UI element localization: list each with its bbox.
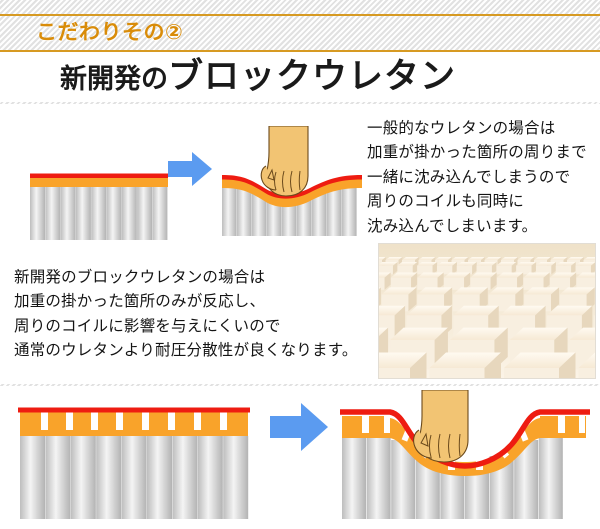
block-urethane-layer bbox=[20, 412, 248, 436]
header-rule-bottom bbox=[0, 50, 600, 52]
cover-layer bbox=[18, 408, 250, 413]
header-rule-top bbox=[0, 14, 600, 16]
caption-line: 加重が掛かった箇所の周りまで bbox=[367, 141, 587, 165]
fist-icon bbox=[414, 390, 468, 462]
caption-line: 通常のウレタンより耐圧分散性が良くなります。 bbox=[14, 339, 358, 363]
caption-line: 一緒に沈み込んでしまうので bbox=[367, 166, 587, 190]
urethane-layer bbox=[30, 177, 168, 187]
page-title: 新開発のブロックウレタン bbox=[60, 57, 456, 104]
arrow-right-bottom bbox=[270, 403, 328, 451]
page-title-main: ブロックウレタン bbox=[168, 57, 456, 96]
caption-standard-urethane: 一般的なウレタンの場合は 加重が掛かった箇所の周りまで 一緒に沈み込んでしまうの… bbox=[367, 117, 587, 239]
caption-line: 一般的なウレタンの場合は bbox=[367, 117, 587, 141]
page-title-prefix: 新開発の bbox=[60, 64, 168, 94]
coil-row bbox=[30, 186, 167, 240]
diagram-standard-pressed bbox=[222, 126, 362, 243]
eyebrow-label: こだわりその② bbox=[36, 19, 183, 47]
arrow-right-top bbox=[168, 152, 212, 186]
caption-line: 加重の掛かった箇所のみが反応し、 bbox=[14, 290, 358, 314]
foam-photo bbox=[378, 243, 596, 379]
caption-line: 周りのコイルに影響を与えにくいので bbox=[14, 315, 358, 339]
caption-line: 新開発のブロックウレタンの場合は bbox=[14, 266, 358, 290]
caption-line: 沈み込んでしまいます。 bbox=[367, 215, 587, 239]
caption-block-urethane: 新開発のブロックウレタンの場合は 加重の掛かった箇所のみが反応し、 周りのコイル… bbox=[14, 266, 358, 364]
diagram-block-pressed bbox=[340, 390, 590, 529]
cover-layer bbox=[30, 174, 168, 179]
diagram-block-flat bbox=[18, 406, 256, 527]
caption-line: 周りのコイルも同時に bbox=[367, 190, 587, 214]
fist-icon bbox=[261, 126, 308, 196]
diagram-standard-flat bbox=[30, 170, 168, 245]
coil-row bbox=[20, 436, 248, 519]
infographic-page: こだわりその② 新開発のブロックウレタン bbox=[0, 0, 600, 527]
